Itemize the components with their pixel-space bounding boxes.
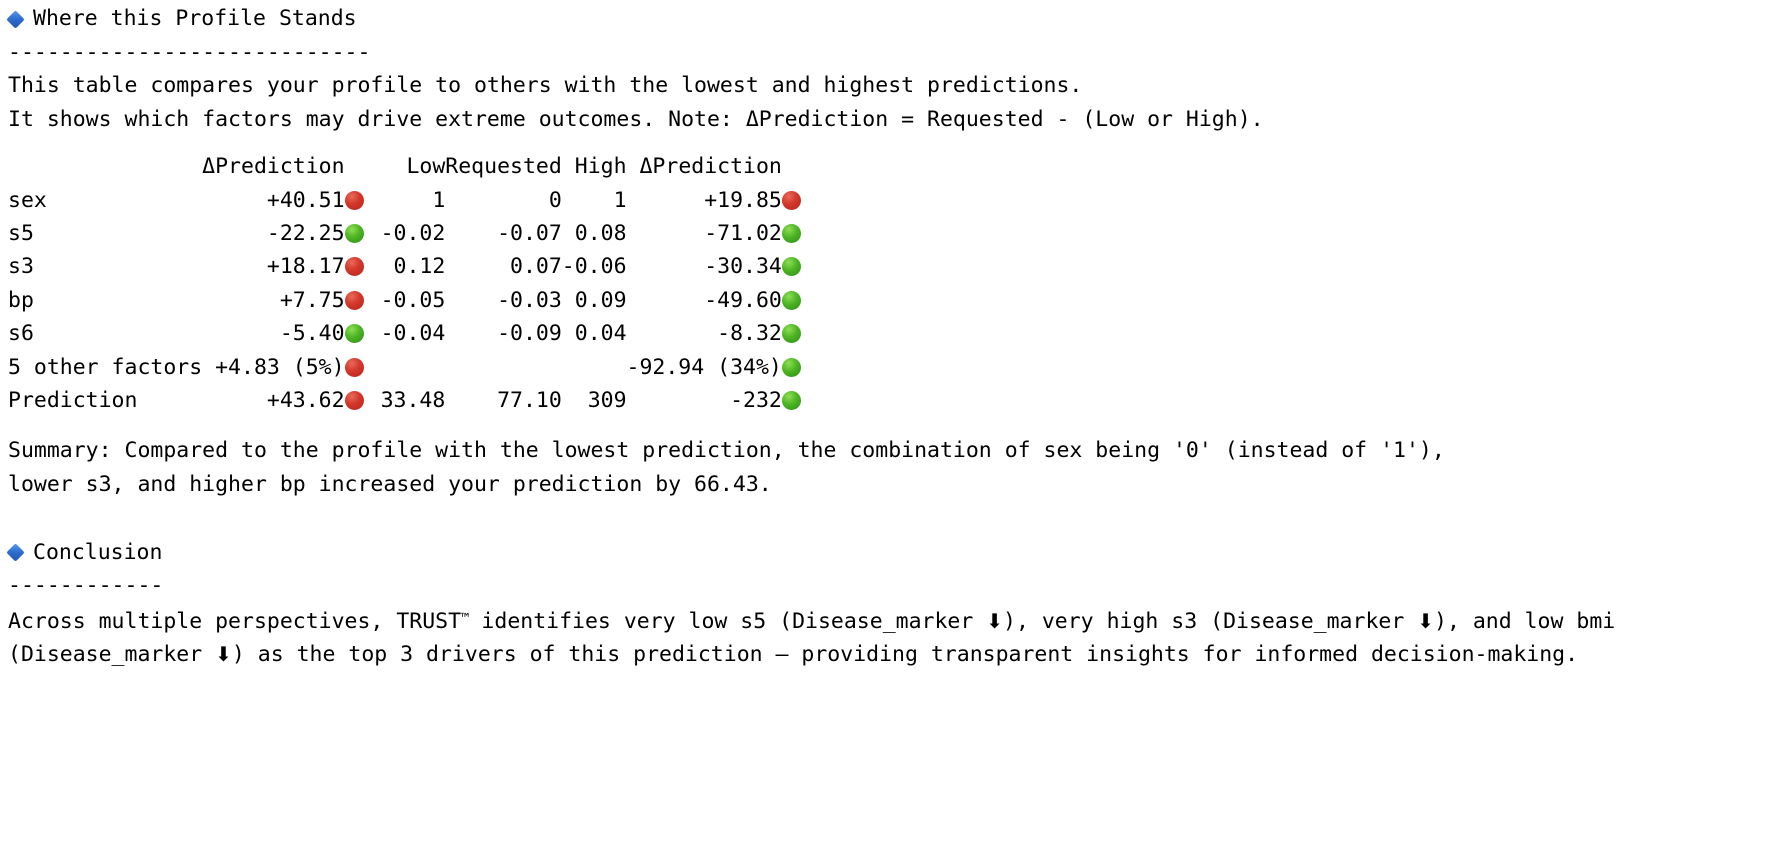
table-row: sex+40.51101+19.85 [8, 184, 816, 217]
header-requested: Requested [445, 150, 562, 183]
cell-requested: -0.03 [445, 284, 562, 317]
intro-line-1: This table compares your profile to othe… [8, 69, 1792, 102]
increase-dot-icon [345, 358, 364, 377]
header-delta-prediction-low: ΔPrediction [202, 150, 344, 183]
cell-high [562, 351, 627, 384]
down-arrow-icon: ⬇ [215, 642, 232, 666]
trademark-symbol: ™ [461, 611, 468, 627]
cell-high: 0.08 [562, 217, 627, 250]
decrease-dot-icon [782, 324, 801, 343]
cell-high: 0.04 [562, 317, 627, 350]
cell-requested: 0 [445, 184, 562, 217]
increase-dot-icon [345, 391, 364, 410]
report-page: Where this Profile Stands --------------… [0, 0, 1792, 671]
increase-dot-icon [345, 291, 364, 310]
header-high: High [562, 150, 627, 183]
increase-dot-icon [345, 257, 364, 276]
table-row: bp+7.75-0.05-0.030.09-49.60 [8, 284, 816, 317]
cell-delta-low: +18.17 [202, 250, 344, 283]
header-dot-low [345, 150, 381, 183]
cell-label: s6 [8, 317, 202, 350]
intro-line-2: It shows which factors may drive extreme… [8, 103, 1792, 136]
cell-requested [445, 351, 562, 384]
cell-label: 5 other factors [8, 351, 202, 384]
cell-delta-low: -22.25 [202, 217, 344, 250]
cell-delta-high: +19.85 [627, 184, 782, 217]
cell-high: -0.06 [562, 250, 627, 283]
cell-dot-low [345, 351, 381, 384]
increase-dot-icon [345, 191, 364, 210]
cell-delta-low: -5.40 [202, 317, 344, 350]
cell-dot-high [782, 217, 816, 250]
decrease-dot-icon [782, 358, 801, 377]
cell-label: sex [8, 184, 202, 217]
header-delta-prediction-high: ΔPrediction [627, 150, 782, 183]
section-heading-conclusion: Conclusion [8, 535, 1792, 569]
blue-diamond-icon [6, 10, 24, 28]
table-row: 5 other factors+4.83 (5%)-92.94 (34%) [8, 351, 816, 384]
down-arrow-icon: ⬇ [986, 609, 1003, 633]
spacer [8, 417, 1792, 434]
cell-dot-high [782, 184, 816, 217]
cell-delta-low: +40.51 [202, 184, 344, 217]
header-dot-high [782, 150, 816, 183]
cell-delta-high: -232 [627, 384, 782, 417]
table-row: s3+18.170.120.07-0.06-30.34 [8, 250, 816, 283]
cell-dot-low [345, 184, 381, 217]
cell-label: bp [8, 284, 202, 317]
cell-low: -0.05 [381, 284, 446, 317]
spacer [8, 501, 1792, 535]
decrease-dot-icon [782, 291, 801, 310]
down-arrow-icon: ⬇ [1417, 609, 1434, 633]
decrease-dot-icon [345, 324, 364, 343]
header-label [8, 150, 202, 183]
cell-dot-high [782, 384, 816, 417]
cell-dot-low [345, 284, 381, 317]
blue-diamond-icon [6, 543, 24, 561]
cell-requested: 0.07 [445, 250, 562, 283]
cell-dot-high [782, 250, 816, 283]
decrease-dot-icon [782, 391, 801, 410]
cell-delta-low: +4.83 (5%) [202, 351, 344, 384]
increase-dot-icon [782, 191, 801, 210]
cell-label: Prediction [8, 384, 202, 417]
cell-delta-high: -92.94 (34%) [627, 351, 782, 384]
cell-dot-low [345, 217, 381, 250]
cell-low: 33.48 [381, 384, 446, 417]
table-header-row: ΔPrediction Low Requested High ΔPredicti… [8, 150, 816, 183]
section-heading-where-this-profile-stands: Where this Profile Stands [8, 2, 1792, 36]
cell-high: 0.09 [562, 284, 627, 317]
cell-label: s3 [8, 250, 202, 283]
cell-delta-high: -71.02 [627, 217, 782, 250]
summary-line-1: Summary: Compared to the profile with th… [8, 434, 1792, 467]
cell-dot-low [345, 384, 381, 417]
cell-low: 0.12 [381, 250, 446, 283]
decrease-dot-icon [782, 224, 801, 243]
cell-low: -0.04 [381, 317, 446, 350]
section-rule: ---------------------------- [8, 36, 1792, 69]
conclusion-body: Across multiple perspectives, TRUST™ ide… [8, 603, 1792, 672]
cell-label: s5 [8, 217, 202, 250]
profile-comparison-table: ΔPrediction Low Requested High ΔPredicti… [8, 150, 816, 417]
cell-requested: -0.09 [445, 317, 562, 350]
cell-requested: 77.10 [445, 384, 562, 417]
summary-line-2: lower s3, and higher bp increased your p… [8, 468, 1792, 501]
cell-delta-low: +7.75 [202, 284, 344, 317]
cell-requested: -0.07 [445, 217, 562, 250]
cell-dot-high [782, 351, 816, 384]
cell-dot-high [782, 284, 816, 317]
cell-delta-high: -30.34 [627, 250, 782, 283]
cell-dot-low [345, 317, 381, 350]
cell-low: 1 [381, 184, 446, 217]
decrease-dot-icon [782, 257, 801, 276]
cell-delta-high: -49.60 [627, 284, 782, 317]
section-title: Conclusion [33, 536, 162, 569]
cell-high: 309 [562, 384, 627, 417]
table-row: s6-5.40-0.04-0.090.04-8.32 [8, 317, 816, 350]
section-title: Where this Profile Stands [33, 2, 357, 35]
section-rule: ------------ [8, 569, 1792, 602]
cell-dot-high [782, 317, 816, 350]
cell-low: -0.02 [381, 217, 446, 250]
cell-low [381, 351, 446, 384]
table-row: Prediction+43.6233.4877.10309-232 [8, 384, 816, 417]
cell-delta-high: -8.32 [627, 317, 782, 350]
cell-delta-low: +43.62 [202, 384, 344, 417]
cell-high: 1 [562, 184, 627, 217]
decrease-dot-icon [345, 224, 364, 243]
cell-dot-low [345, 250, 381, 283]
table-row: s5-22.25-0.02-0.070.08-71.02 [8, 217, 816, 250]
header-low: Low [381, 150, 446, 183]
